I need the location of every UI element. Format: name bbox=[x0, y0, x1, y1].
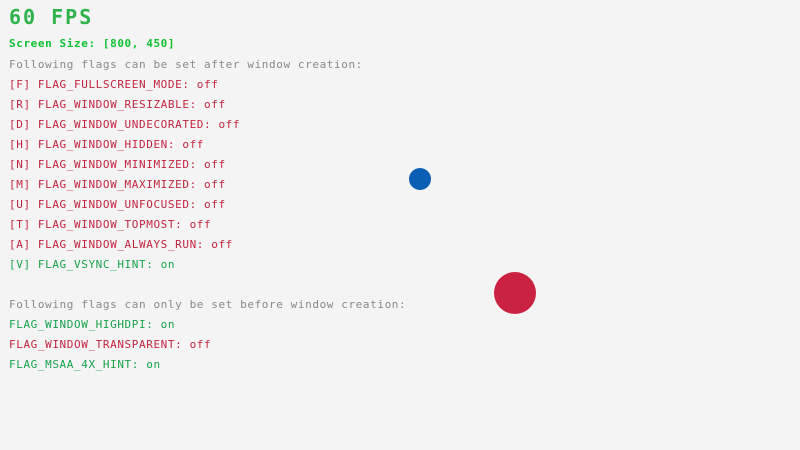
flag-name: FLAG_WINDOW_RESIZABLE bbox=[38, 98, 190, 111]
flag-state-value: : off bbox=[204, 118, 240, 131]
flag-state-value: : off bbox=[175, 218, 211, 231]
fps-counter: 60 FPS bbox=[9, 7, 93, 27]
flag-shortcut-key: [R] bbox=[9, 98, 38, 111]
game-canvas[interactable]: 60 FPS Screen Size: [800, 450] Following… bbox=[0, 0, 800, 450]
flag-row[interactable]: [A] FLAG_WINDOW_ALWAYS_RUN: off bbox=[9, 239, 240, 259]
flag-name: FLAG_FULLSCREEN_MODE bbox=[38, 78, 182, 91]
flag-name: FLAG_WINDOW_HIDDEN bbox=[38, 138, 168, 151]
flag-state-value: : off bbox=[190, 198, 226, 211]
flag-name: FLAG_WINDOW_MAXIMIZED bbox=[38, 178, 190, 191]
flag-state-value: : on bbox=[132, 358, 161, 371]
flag-state-value: : off bbox=[190, 178, 226, 191]
flag-row[interactable]: [D] FLAG_WINDOW_UNDECORATED: off bbox=[9, 119, 240, 139]
flag-shortcut-key: [V] bbox=[9, 258, 38, 271]
flag-row[interactable]: [N] FLAG_WINDOW_MINIMIZED: off bbox=[9, 159, 240, 179]
screen-size-label: Screen Size: [800, 450] bbox=[9, 38, 175, 49]
flag-shortcut-key: [N] bbox=[9, 158, 38, 171]
section-header-after-creation: Following flags can be set after window … bbox=[9, 59, 363, 70]
flag-state-value: : off bbox=[182, 78, 218, 91]
flag-name: FLAG_WINDOW_MINIMIZED bbox=[38, 158, 190, 171]
red-ball-shape bbox=[494, 272, 536, 314]
flag-shortcut-key: [D] bbox=[9, 118, 38, 131]
flag-row[interactable]: [R] FLAG_WINDOW_RESIZABLE: off bbox=[9, 99, 240, 119]
flag-row[interactable]: FLAG_WINDOW_TRANSPARENT: off bbox=[9, 339, 211, 359]
flag-state-value: : off bbox=[190, 158, 226, 171]
section-header-before-creation: Following flags can only be set before w… bbox=[9, 299, 406, 310]
flag-state-value: : on bbox=[146, 258, 175, 271]
flag-list-before-creation: FLAG_WINDOW_HIGHDPI: onFLAG_WINDOW_TRANS… bbox=[9, 319, 211, 379]
flag-shortcut-key: [H] bbox=[9, 138, 38, 151]
flag-shortcut-key: [F] bbox=[9, 78, 38, 91]
flag-state-value: : off bbox=[197, 238, 233, 251]
flag-row[interactable]: [M] FLAG_WINDOW_MAXIMIZED: off bbox=[9, 179, 240, 199]
flag-row[interactable]: [U] FLAG_WINDOW_UNFOCUSED: off bbox=[9, 199, 240, 219]
flag-row[interactable]: [V] FLAG_VSYNC_HINT: on bbox=[9, 259, 240, 279]
flag-row[interactable]: FLAG_MSAA_4X_HINT: on bbox=[9, 359, 211, 379]
flag-row[interactable]: [F] FLAG_FULLSCREEN_MODE: off bbox=[9, 79, 240, 99]
flag-name: FLAG_WINDOW_ALWAYS_RUN bbox=[38, 238, 197, 251]
flag-shortcut-key: [M] bbox=[9, 178, 38, 191]
flag-shortcut-key: [T] bbox=[9, 218, 38, 231]
flag-name: FLAG_VSYNC_HINT bbox=[38, 258, 146, 271]
flag-row[interactable]: [H] FLAG_WINDOW_HIDDEN: off bbox=[9, 139, 240, 159]
flag-state-value: : off bbox=[175, 338, 211, 351]
flag-name: FLAG_MSAA_4X_HINT bbox=[9, 358, 132, 371]
flag-name: FLAG_WINDOW_HIGHDPI bbox=[9, 318, 146, 331]
blue-ball-shape bbox=[409, 168, 431, 190]
flag-shortcut-key: [U] bbox=[9, 198, 38, 211]
flag-row[interactable]: [T] FLAG_WINDOW_TOPMOST: off bbox=[9, 219, 240, 239]
flag-state-value: : on bbox=[146, 318, 175, 331]
flag-name: FLAG_WINDOW_TRANSPARENT bbox=[9, 338, 175, 351]
flag-state-value: : off bbox=[168, 138, 204, 151]
flag-name: FLAG_WINDOW_UNDECORATED bbox=[38, 118, 204, 131]
flag-name: FLAG_WINDOW_TOPMOST bbox=[38, 218, 175, 231]
flag-name: FLAG_WINDOW_UNFOCUSED bbox=[38, 198, 190, 211]
flag-state-value: : off bbox=[190, 98, 226, 111]
flag-row[interactable]: FLAG_WINDOW_HIGHDPI: on bbox=[9, 319, 211, 339]
flag-list-after-creation: [F] FLAG_FULLSCREEN_MODE: off[R] FLAG_WI… bbox=[9, 79, 240, 279]
flag-shortcut-key: [A] bbox=[9, 238, 38, 251]
